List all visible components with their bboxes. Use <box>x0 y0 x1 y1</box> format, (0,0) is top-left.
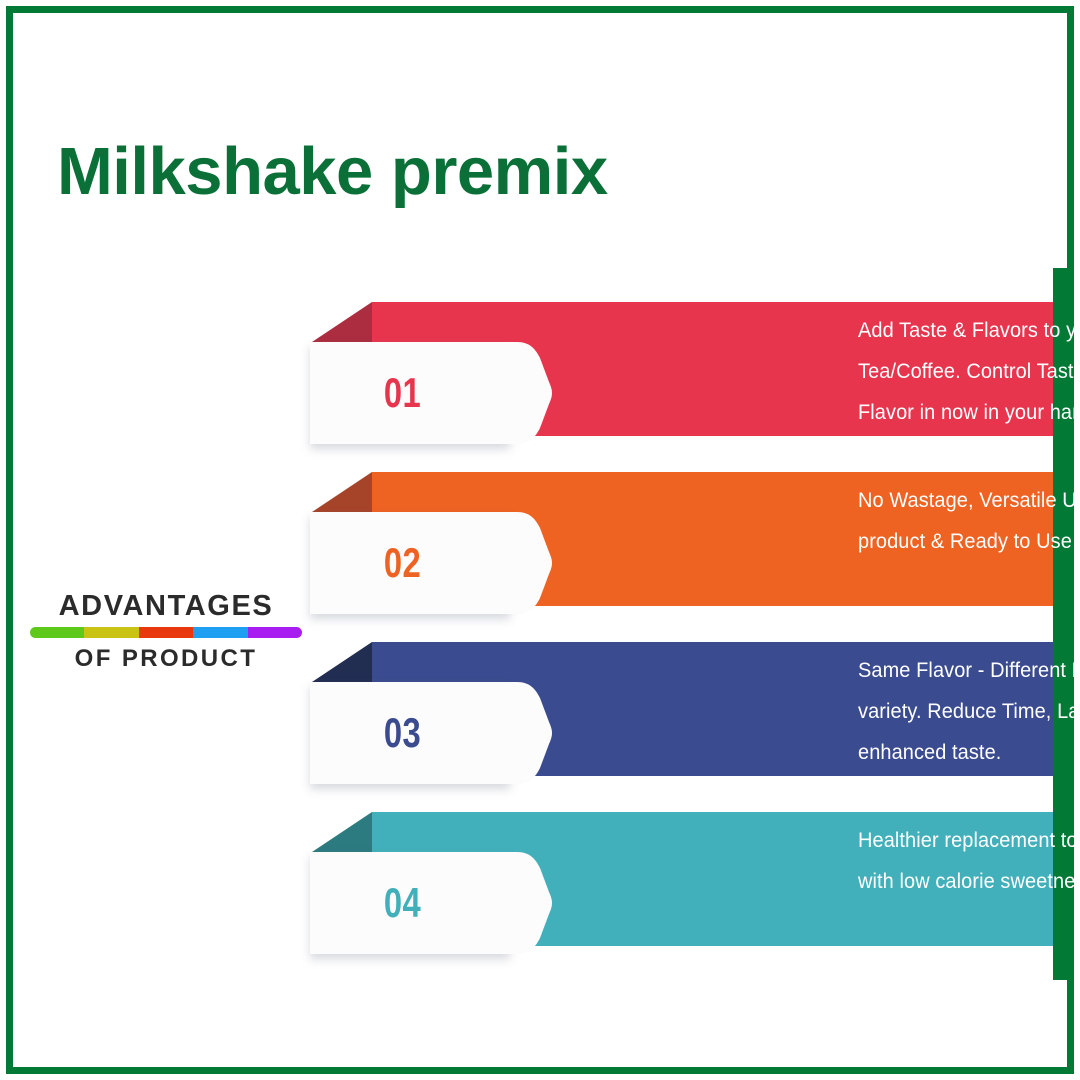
label-color-bar <box>30 627 302 638</box>
segment-purple <box>248 627 302 638</box>
section-label-main: ADVANTAGES <box>26 589 306 623</box>
advantage-banner[interactable]: 01Add Taste & Flavors to your regular Te… <box>310 292 1074 444</box>
page-title: Milkshake premix <box>57 133 608 210</box>
banner-plate-arrow <box>495 852 553 954</box>
banner-text: Add Taste & Flavors to your regular Tea/… <box>858 310 1080 433</box>
segment-green <box>30 627 84 638</box>
banner-text: Same Flavor - Different Beverages. Numer… <box>858 650 1080 773</box>
banner-number: 03 <box>330 682 474 784</box>
segment-red <box>139 627 193 638</box>
section-label: ADVANTAGES OF PRODUCT <box>26 589 306 674</box>
banner-plate-arrow <box>495 512 553 614</box>
segment-olive <box>84 627 138 638</box>
slide-canvas: Milkshake premix ADVANTAGES OF PRODUCT 0… <box>0 0 1080 1080</box>
banner-number: 04 <box>330 852 474 954</box>
banner-fold-corner <box>312 812 372 852</box>
section-label-sub: OF PRODUCT <box>26 644 306 674</box>
banner-plate-arrow <box>495 342 553 444</box>
banner-fold-corner <box>312 642 372 682</box>
advantage-banner[interactable]: 03Same Flavor - Different Beverages. Num… <box>310 632 1074 784</box>
banner-plate-arrow <box>495 682 553 784</box>
advantage-banner[interactable]: 04Healthier replacement to syrups and ma… <box>310 802 1074 954</box>
banner-text: Healthier replacement to syrups and made… <box>858 820 1080 902</box>
banner-number: 02 <box>330 512 474 614</box>
banner-fold-corner <box>312 302 372 342</box>
advantage-banner[interactable]: 02No Wastage, Versatile Use, Longer Shel… <box>310 462 1074 614</box>
banner-number: 01 <box>330 342 474 444</box>
banner-fold-corner <box>312 472 372 512</box>
banner-text: No Wastage, Versatile Use, Longer Shelf … <box>858 480 1080 562</box>
segment-blue <box>193 627 247 638</box>
